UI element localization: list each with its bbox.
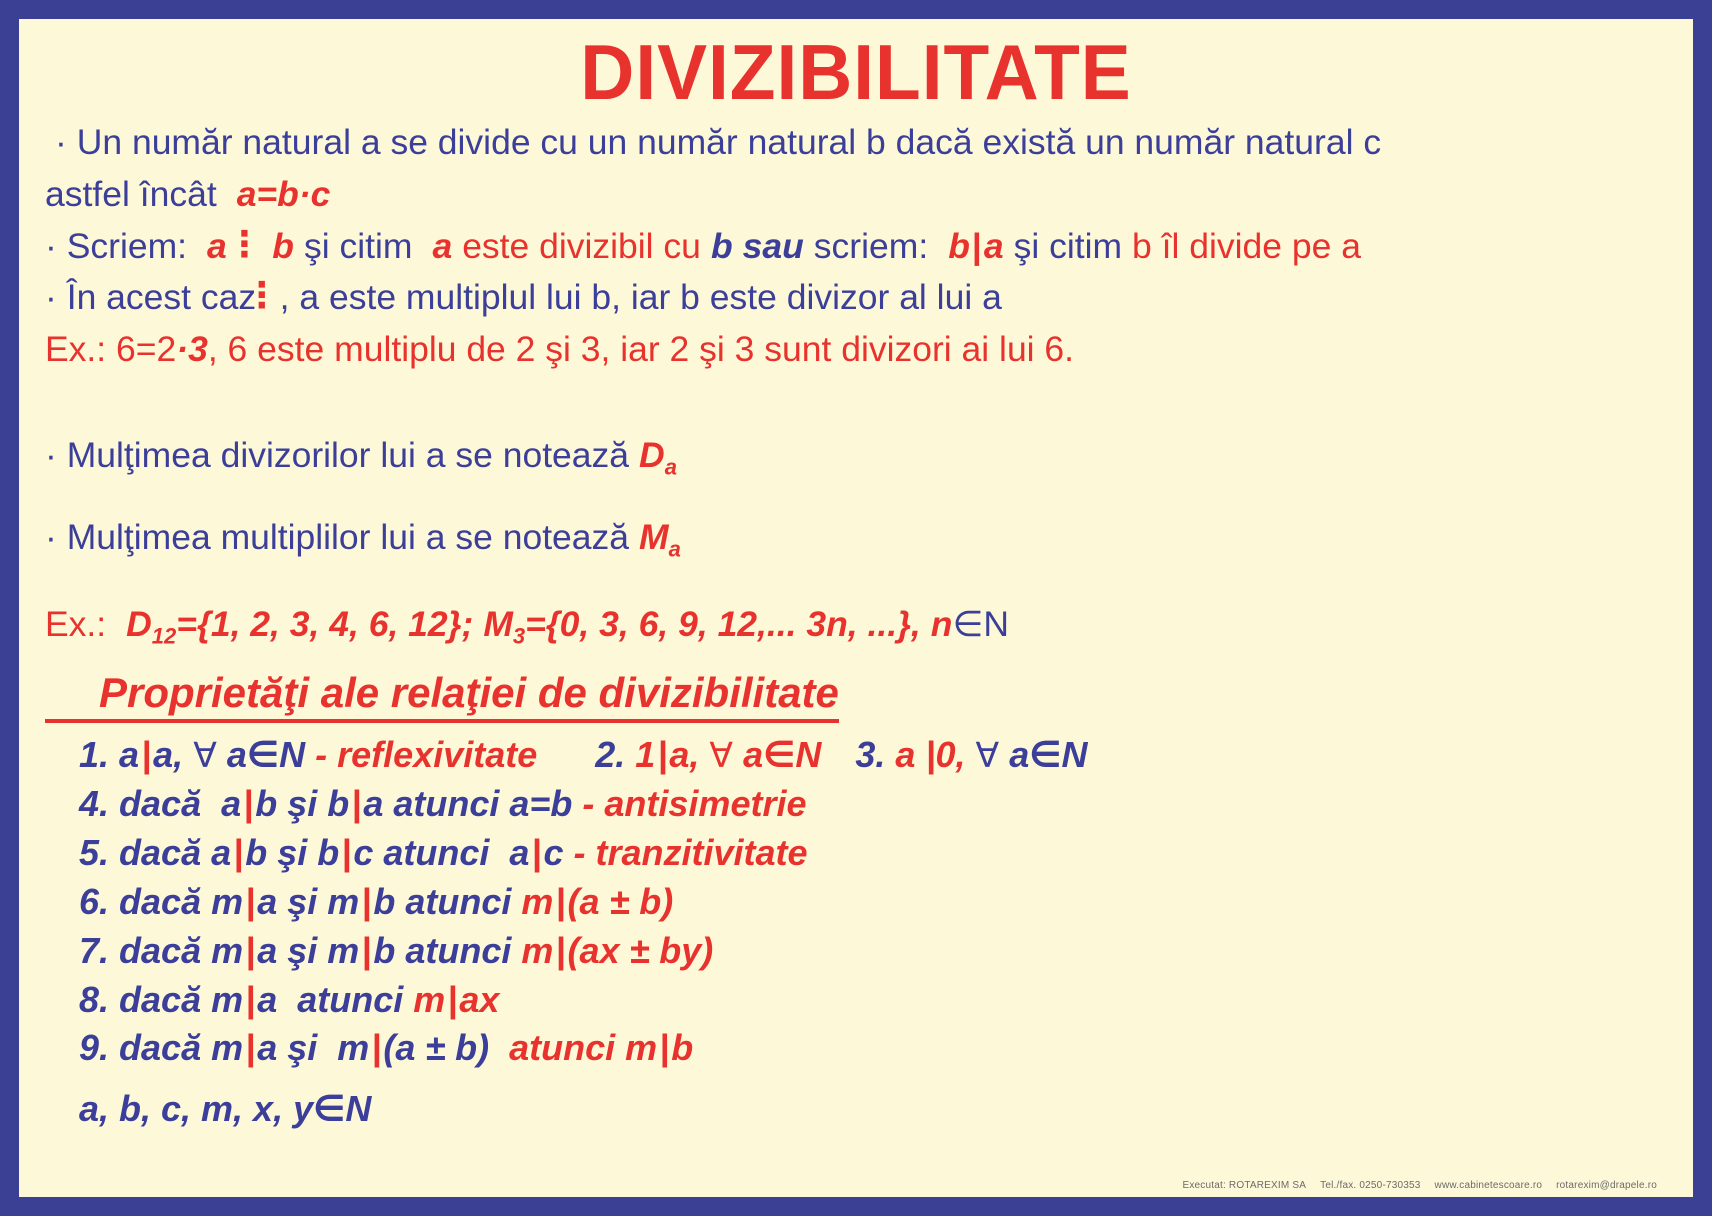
divides-bar-icon: | (655, 734, 669, 775)
p5-dash: - (574, 832, 586, 873)
notation-line: · Scriem:a⋮bşi citimaeste divizibil cubs… (45, 221, 1667, 273)
footer-executant: Executat: ROTAREXIM SA (1182, 1180, 1306, 1191)
bullet-icon: · (45, 517, 57, 557)
member-of-icon: ∈ (952, 604, 983, 644)
member-of-icon: ∈ (763, 734, 795, 775)
p1-num: 1. (79, 734, 109, 775)
member-of-icon: ∈ (247, 734, 279, 775)
divides-bar-icon: | (243, 930, 257, 971)
bullet-icon: · (55, 122, 67, 162)
case-text-after: , a este multiplul lui b, iar b este div… (280, 277, 1002, 317)
si-citim-text-2: şi citim (1014, 226, 1122, 266)
p5-b2: b (317, 832, 339, 873)
p7-atunci: atunci (405, 930, 511, 971)
definition-line-1: · Un număr natural a se divide cu un num… (45, 117, 1667, 169)
p6-si: şi (287, 881, 317, 922)
poster-inner: DIVIZIBILITATE · Un număr natural a se d… (14, 14, 1698, 1202)
case-line: · În acest caz⋮, a este multiplul lui b,… (45, 272, 1667, 324)
p9-a: a (257, 1027, 277, 1068)
property-row-5: 5. dacăa|bşib|catuncia|c-tranzitivitate (79, 829, 1667, 878)
member-of-icon: ∈ (313, 1088, 345, 1129)
p5-si: şi (277, 832, 307, 873)
multiples-set-line: · Mulţimea multiplilor lui a se noteazăM… (45, 512, 1667, 565)
set-N: N (345, 1088, 371, 1129)
p4-a: a (221, 783, 241, 824)
spacer (45, 376, 1667, 402)
p8-num: 8. (79, 979, 109, 1020)
property-row-8: 8. dacăm|aatuncim|ax (79, 976, 1667, 1025)
p7-m3: m (521, 930, 553, 971)
property-row-4: 4. dacăa|bşib|a atunci a=b-antisimetrie (79, 780, 1667, 829)
p4-num: 4. (79, 783, 109, 824)
p4-daca: dacă (119, 783, 201, 824)
properties-heading-wrap: Proprietăţi ale relaţiei de divizibilita… (19, 662, 1693, 722)
divides-bar-icon: | (243, 881, 257, 922)
si-citim-text: şi citim (304, 226, 412, 266)
properties-heading: Proprietăţi ale relaţiei de divizibilita… (45, 668, 839, 722)
p6-a: a (257, 881, 277, 922)
example-dot-three: ·3 (176, 329, 208, 369)
member-of-icon: ∈ (1029, 734, 1061, 775)
p5-c2: c (543, 832, 563, 873)
var-a: a (207, 226, 227, 266)
var-b-3: b (948, 226, 970, 266)
p3-zero: 0, (936, 734, 966, 775)
p1-name: reflexivitate (337, 734, 537, 775)
m-subscript: 3 (513, 623, 525, 648)
p8-a: a (257, 979, 277, 1020)
var-b: b (272, 226, 294, 266)
divides-bar-icon: | (529, 832, 543, 873)
p2-one: 1 (635, 734, 655, 775)
property-row-7: 7. dacăm|aşim|batuncim|(ax ± by) (79, 927, 1667, 976)
p7-daca: dacă (119, 930, 201, 971)
example-sets-prefix: Ex.: (45, 604, 106, 644)
divides-dots-icon: ⋮ (244, 270, 280, 322)
p2-a: a, (669, 734, 699, 775)
p5-atunci: atunci (383, 832, 489, 873)
divides-bar-icon: | (139, 734, 153, 775)
example-rest: , 6 este multiplu de 2 şi 3, iar 2 şi 3 … (208, 329, 1074, 369)
set-N: N (1062, 734, 1088, 775)
divides-bar-icon: | (445, 979, 459, 1020)
divisors-subscript: a (665, 454, 677, 479)
example-prefix: Ex.: 6=2 (45, 329, 176, 369)
p6-num: 6. (79, 881, 109, 922)
d-value: ={1, 2, 3, 4, 6, 12}; (176, 604, 473, 644)
p9-m: m (211, 1027, 243, 1068)
p6-daca: dacă (119, 881, 201, 922)
p6-b: b (373, 881, 395, 922)
footer-telfax: Tel./fax. 0250-730353 (1320, 1180, 1420, 1191)
divides-dots-icon: ⋮ (227, 219, 263, 271)
divides-bar-icon: | (657, 1027, 671, 1068)
var-a-3: a (984, 226, 1004, 266)
m-value: ={0, 3, 6, 9, 12,... 3n, ...}, (525, 604, 921, 644)
bullet-icon: · (45, 435, 57, 475)
p8-m2: m (413, 979, 445, 1020)
p7-result: (ax ± by) (567, 930, 713, 971)
divides-bar-icon: | (970, 226, 984, 266)
forall-icon: ∀ (193, 737, 217, 775)
divides-bar-icon: | (243, 1027, 257, 1068)
p4-dash: - (582, 783, 594, 824)
p7-a: a (257, 930, 277, 971)
p6-atunci: atunci (405, 881, 511, 922)
p2-var: a (743, 734, 763, 775)
notation-tail: b îl divide pe a (1132, 226, 1361, 266)
definition-text-1: Un număr natural a se divide cu un număr… (77, 122, 1381, 162)
var-b-2: b (711, 226, 733, 266)
multiples-symbol: M (639, 517, 669, 557)
forall-icon: ∀ (976, 737, 1000, 775)
variables-row: a, b, c, m, x, y∈N (79, 1085, 1667, 1134)
p8-daca: dacă (119, 979, 201, 1020)
p3-a: a (895, 734, 915, 775)
properties-list: 1. a|a,∀a∈N-reflexivitate2.1|a,∀a∈N3.a|0… (19, 723, 1693, 1135)
p4-b: b (255, 783, 277, 824)
p9-m2: m (337, 1027, 369, 1068)
definition-line-2: astfel încâta=b·c (45, 169, 1667, 221)
p6-m: m (211, 881, 243, 922)
p4-a2: a atunci a=b (363, 783, 572, 824)
bullet-icon: · (45, 277, 57, 317)
set-N: N (279, 734, 305, 775)
page-title: DIVIZIBILITATE (52, 33, 1659, 111)
footer-email: rotarexim@drapele.ro (1556, 1180, 1657, 1191)
property-row-1: 1. a|a,∀a∈N-reflexivitate2.1|a,∀a∈N3.a|0… (79, 731, 1667, 780)
p6-result: (a ± b) (567, 881, 673, 922)
set-N: N (795, 734, 821, 775)
scriem-label-2: scriem: (814, 226, 928, 266)
definition-text-2: astfel încât (45, 174, 217, 214)
example-sets-line: Ex.:D12={1, 2, 3, 4, 6, 12};M3={0, 3, 6,… (45, 599, 1667, 652)
p5-num: 5. (79, 832, 109, 873)
variables-list: a, b, c, m, x, y (79, 1088, 313, 1129)
n-variable: n (931, 604, 953, 644)
sau-text: sau (743, 226, 804, 266)
p7-m2: m (327, 930, 359, 971)
multiples-set-text: Mulţimea multiplilor lui a se notează (67, 517, 629, 557)
property-row-6: 6. dacăm|aşim|batuncim|(a ± b) (79, 878, 1667, 927)
divizibil-text: este divizibil cu (462, 226, 701, 266)
divides-bar-icon: | (231, 832, 245, 873)
p7-b: b (373, 930, 395, 971)
case-text-before: În acest caz (67, 277, 256, 317)
poster-frame: DIVIZIBILITATE · Un număr natural a se d… (0, 0, 1712, 1216)
divides-bar-icon: | (553, 881, 567, 922)
divides-bar-icon: | (359, 881, 373, 922)
m-symbol: M (483, 604, 513, 644)
bullet-icon: · (45, 226, 57, 266)
scriem-label: Scriem: (67, 226, 187, 266)
p5-c: c (353, 832, 373, 873)
p6-m2: m (327, 881, 359, 922)
p5-name: tranzitivitate (596, 832, 808, 873)
p7-m: m (211, 930, 243, 971)
divides-bar-icon: | (243, 979, 257, 1020)
p5-a2: a (509, 832, 529, 873)
p9-num: 9. (79, 1027, 109, 1068)
var-a-2: a (432, 226, 452, 266)
p1-a: a (119, 734, 139, 775)
divides-bar-icon: | (359, 930, 373, 971)
divisors-set-line: · Mulţimea divizorilor lui a se noteazăD… (45, 430, 1667, 483)
multiples-subscript: a (669, 536, 681, 561)
d-symbol: D (126, 604, 152, 644)
p4-si: şi (287, 783, 317, 824)
p2-num: 2. (595, 734, 625, 775)
property-row-9: 9. dacăm|aşim|(a ± b)atuncim|b (79, 1024, 1667, 1073)
p1-b: a, (153, 734, 183, 775)
p9-expr: (a ± b) (383, 1027, 489, 1068)
d-subscript: 12 (152, 623, 176, 648)
p4-name: antisimetrie (604, 783, 806, 824)
p7-num: 7. (79, 930, 109, 971)
p6-m3: m (521, 881, 553, 922)
p9-si: şi (287, 1027, 317, 1068)
poster-body: · Un număr natural a se divide cu un num… (19, 117, 1693, 652)
p9-atunci: atunci (509, 1027, 615, 1068)
example-line: Ex.: 6=2·3, 6 este multiplu de 2 şi 3, i… (45, 324, 1667, 376)
p5-a: a (211, 832, 231, 873)
p8-m: m (211, 979, 243, 1020)
p5-b: b (245, 832, 267, 873)
footer-site: www.cabinetescoare.ro (1435, 1180, 1543, 1191)
divides-bar-icon: | (369, 1027, 383, 1068)
p9-b: b (671, 1027, 693, 1068)
divisors-set-text: Mulţimea divizorilor lui a se notează (67, 435, 629, 475)
divides-bar-icon: | (349, 783, 363, 824)
divisors-symbol: D (639, 435, 665, 475)
p8-result: ax (459, 979, 499, 1020)
p5-daca: dacă (119, 832, 201, 873)
p4-b2: b (327, 783, 349, 824)
divides-bar-icon: | (241, 783, 255, 824)
p9-m3: m (625, 1027, 657, 1068)
divides-bar-icon: | (553, 930, 567, 971)
p9-daca: dacă (119, 1027, 201, 1068)
definition-formula: a=b·c (237, 174, 331, 214)
set-N: N (983, 604, 1009, 644)
p3-var: a (1009, 734, 1029, 775)
p3-num: 3. (855, 734, 885, 775)
divides-bar-icon: | (339, 832, 353, 873)
divides-bar-icon: | (925, 734, 935, 775)
p1-dash: - (315, 734, 327, 775)
p8-atunci: atunci (297, 979, 403, 1020)
forall-icon: ∀ (709, 737, 733, 775)
p7-si: şi (287, 930, 317, 971)
p1-var: a (227, 734, 247, 775)
footer-credit: Executat: ROTAREXIM SATel./fax. 0250-730… (1182, 1180, 1671, 1191)
